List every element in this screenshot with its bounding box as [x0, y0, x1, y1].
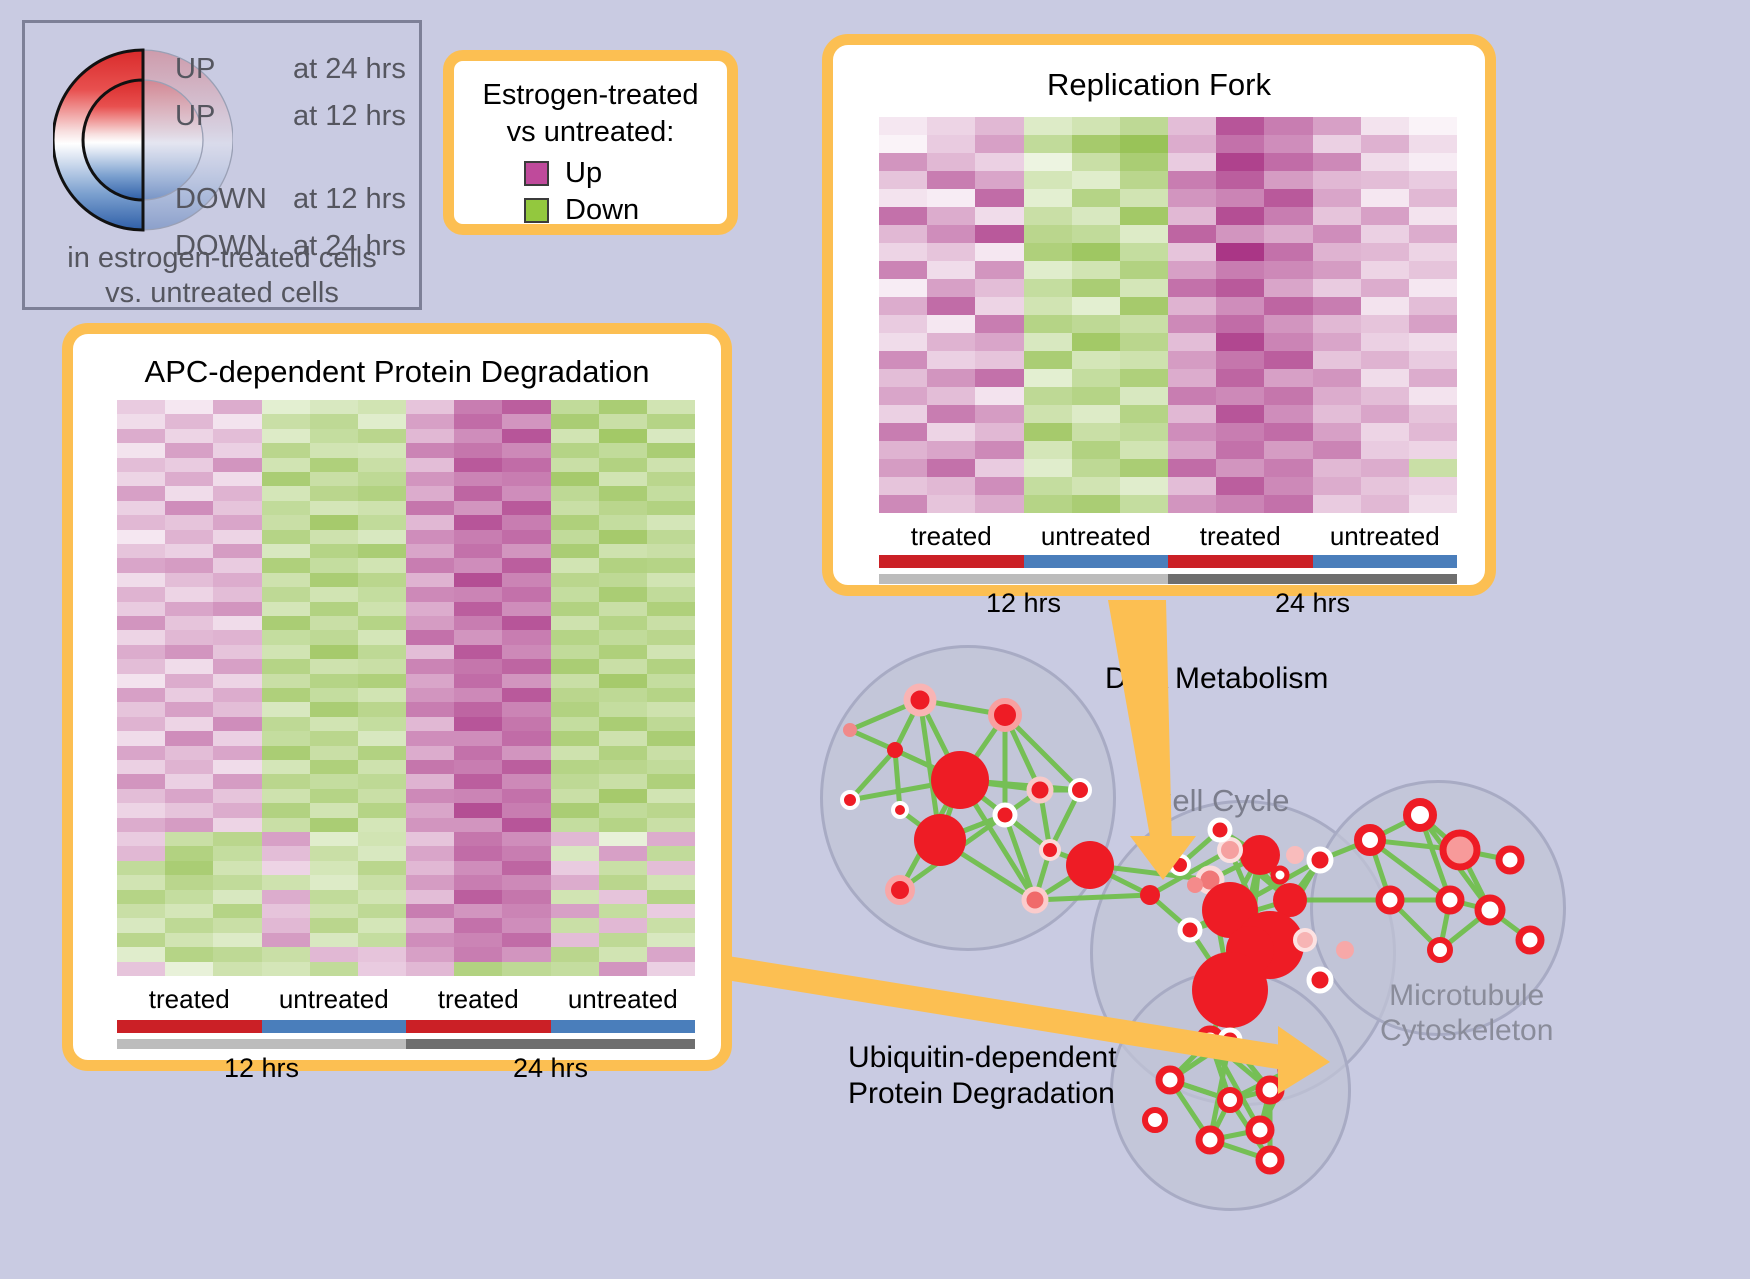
heatmap-cell — [406, 789, 454, 803]
heatmap-cell — [406, 530, 454, 544]
heatmap-cell — [406, 890, 454, 904]
heatmap-cell — [117, 558, 165, 572]
heatmap-cell — [1409, 459, 1457, 477]
heatmap-cell — [647, 803, 695, 817]
heatmap-cell — [310, 458, 358, 472]
heatmap-cell — [358, 414, 406, 428]
heatmap-cell — [213, 947, 261, 961]
heatmap-cell — [599, 472, 647, 486]
heatmap-cell — [502, 774, 550, 788]
heatmap-cell — [1409, 207, 1457, 225]
heatmap-cell — [1264, 441, 1312, 459]
heatmap-cell — [647, 659, 695, 673]
heatmap-cell — [165, 832, 213, 846]
heatmap-cell — [454, 573, 502, 587]
heatmap-cell — [406, 429, 454, 443]
heatmap-cell — [599, 774, 647, 788]
heatmap-cell — [262, 530, 310, 544]
heatmap-cell — [647, 414, 695, 428]
heatmap-cell — [647, 530, 695, 544]
heatmap-cell — [117, 530, 165, 544]
heatmap-cell — [502, 530, 550, 544]
heatmap-cell — [1409, 477, 1457, 495]
heatmap-cell — [647, 760, 695, 774]
heatmap-cell — [262, 904, 310, 918]
heatmap-cell — [879, 405, 927, 423]
heatmap-cell — [975, 477, 1023, 495]
heatmap-cell — [165, 933, 213, 947]
heatmap-cell — [1264, 423, 1312, 441]
legend-spacer — [175, 147, 415, 183]
heatmap-cell — [502, 789, 550, 803]
heatmap-cell — [599, 688, 647, 702]
heatmap-cell — [1216, 495, 1264, 513]
heatmap-cell — [310, 530, 358, 544]
heatmap-cell — [213, 400, 261, 414]
heatmap-cell — [117, 962, 165, 976]
heatmap-cell — [1313, 495, 1361, 513]
heatmap-cell — [310, 760, 358, 774]
heatmap-cell — [1024, 369, 1072, 387]
heatmap-cell — [1313, 387, 1361, 405]
heatmap-cell — [117, 443, 165, 457]
heatmap-cell — [1361, 207, 1409, 225]
heatmap-cell — [1216, 171, 1264, 189]
heatmap-cell — [117, 616, 165, 630]
heatmap-cell — [647, 616, 695, 630]
heatmap-cell — [213, 558, 261, 572]
heatmap-cell — [117, 429, 165, 443]
heatmap-cell — [406, 573, 454, 587]
heatmap-cell — [1264, 225, 1312, 243]
heatmap-cell — [1264, 207, 1312, 225]
heatmap-cell — [358, 918, 406, 932]
heatmap-cell — [406, 731, 454, 745]
heatmap-cell — [213, 818, 261, 832]
heatmap-cell — [1409, 189, 1457, 207]
heatmap-cell — [310, 587, 358, 601]
key-title-line1: Estrogen-treated — [454, 77, 727, 114]
heatmap-cell — [1216, 117, 1264, 135]
heatmap-cell — [117, 501, 165, 515]
key-title-line2: vs untreated: — [454, 114, 727, 151]
heatmap-cell — [165, 962, 213, 976]
heatmap-cell — [406, 918, 454, 932]
heatmap-cell — [358, 717, 406, 731]
heatmap-cell — [647, 429, 695, 443]
heatmap-cell — [454, 458, 502, 472]
heatmap-cell — [879, 423, 927, 441]
heatmap-cell — [454, 472, 502, 486]
heatmap-cell — [599, 947, 647, 961]
heatmap-cell — [213, 414, 261, 428]
heatmap-cell — [1216, 189, 1264, 207]
heatmap-cell — [454, 674, 502, 688]
heatmap-cell — [599, 746, 647, 760]
heatmap-cell — [1313, 153, 1361, 171]
heatmap-cell — [502, 659, 550, 673]
heatmap-cell — [262, 702, 310, 716]
heatmap-cell — [502, 630, 550, 644]
heatmap-cell — [454, 933, 502, 947]
heatmap-cell — [358, 832, 406, 846]
heatmap-cell — [310, 630, 358, 644]
heatmap-cell — [1168, 459, 1216, 477]
heatmap-cell — [358, 501, 406, 515]
heatmap-cell — [358, 558, 406, 572]
heatmap-cell — [406, 832, 454, 846]
heatmap-cell — [406, 458, 454, 472]
heatmap-cell — [1072, 369, 1120, 387]
heatmap-cell — [599, 616, 647, 630]
heatmap-cell — [1072, 117, 1120, 135]
heatmap-cell — [1072, 423, 1120, 441]
heatmap-cell — [1120, 405, 1168, 423]
heatmap-cell — [165, 414, 213, 428]
condition-label: treated — [1168, 521, 1313, 552]
heatmap-cell — [647, 630, 695, 644]
heatmap-cell — [406, 443, 454, 457]
heatmap-cell — [310, 962, 358, 976]
heatmap-cell — [1361, 279, 1409, 297]
heatmap-cell — [502, 616, 550, 630]
condition-label: untreated — [1024, 521, 1169, 552]
heatmap-cell — [975, 207, 1023, 225]
heatmap-cell — [1168, 387, 1216, 405]
heatmap-cell — [551, 458, 599, 472]
heatmap-cell — [879, 135, 927, 153]
heatmap-cell — [1024, 117, 1072, 135]
heatmap-cell — [551, 501, 599, 515]
heatmap-cell — [454, 904, 502, 918]
heatmap-cell — [1120, 117, 1168, 135]
heatmap-cell — [1024, 153, 1072, 171]
heatmap-cell — [1024, 279, 1072, 297]
pathway-network-diagram: DNA Metabolism Cell Cycle Microtubule Cy… — [790, 600, 1750, 1279]
heatmap-cell — [165, 587, 213, 601]
heatmap-cell — [1168, 441, 1216, 459]
heatmap-cell — [1264, 135, 1312, 153]
heatmap-cell — [551, 645, 599, 659]
heatmap-cell — [1409, 423, 1457, 441]
heatmap-cell — [1168, 423, 1216, 441]
heatmap-cell — [1361, 423, 1409, 441]
heatmap-cell — [117, 717, 165, 731]
heatmap-cell — [454, 616, 502, 630]
heatmap-cell — [406, 947, 454, 961]
heatmap-cell — [454, 717, 502, 731]
heatmap-cell — [1361, 261, 1409, 279]
heatmap-cell — [117, 702, 165, 716]
heatmap-cell — [1168, 135, 1216, 153]
heatmap-cell — [599, 674, 647, 688]
heatmap-cell — [406, 818, 454, 832]
heatmap-cell — [117, 947, 165, 961]
heatmap-cell — [1313, 351, 1361, 369]
heatmap-cell — [927, 495, 975, 513]
heatmap-cell — [406, 904, 454, 918]
panel-title: APC-dependent Protein Degradation — [73, 354, 721, 390]
heatmap-cell — [1409, 441, 1457, 459]
heatmap-cell — [1264, 153, 1312, 171]
heatmap-cell — [1024, 333, 1072, 351]
heatmap-cell — [406, 688, 454, 702]
heatmap-cell — [358, 962, 406, 976]
legend-value: at 24 hrs — [293, 53, 406, 86]
heatmap-cell — [454, 890, 502, 904]
heatmap-cell — [262, 846, 310, 860]
heatmap-cell — [1168, 117, 1216, 135]
heatmap-cell — [1313, 171, 1361, 189]
heatmap-cell — [927, 387, 975, 405]
heatmap-cell — [213, 962, 261, 976]
heatmap-cell — [310, 486, 358, 500]
heatmap-cell — [117, 544, 165, 558]
heatmap-cell — [1120, 297, 1168, 315]
heatmap-cell — [551, 544, 599, 558]
heatmap-cell — [927, 261, 975, 279]
heatmap-cell — [1120, 315, 1168, 333]
heatmap-cell — [879, 369, 927, 387]
heatmap-cell — [502, 962, 550, 976]
heatmap-cell — [647, 918, 695, 932]
heatmap-cell — [927, 135, 975, 153]
heatmap-cell — [1072, 477, 1120, 495]
heatmap-cell — [1313, 279, 1361, 297]
heatmap-cell — [454, 515, 502, 529]
heatmap-cell — [927, 405, 975, 423]
heatmap-cell — [213, 472, 261, 486]
heatmap-cell — [310, 429, 358, 443]
key-title: Estrogen-treated vs untreated: — [454, 77, 727, 150]
heatmap-cell — [213, 616, 261, 630]
heatmap-cell — [213, 429, 261, 443]
heatmap-cell — [454, 702, 502, 716]
heatmap-cell — [454, 861, 502, 875]
heatmap-cell — [454, 544, 502, 558]
heatmap-cell — [310, 832, 358, 846]
heatmap-cell — [599, 458, 647, 472]
heatmap-cell — [213, 731, 261, 745]
heatmap-cell — [454, 746, 502, 760]
heatmap-cell — [599, 515, 647, 529]
heatmap-cell — [358, 645, 406, 659]
heatmap-cell — [310, 688, 358, 702]
heatmap-cell — [599, 544, 647, 558]
heatmap-cell — [262, 861, 310, 875]
heatmap-cell — [165, 904, 213, 918]
heatmap-cell — [1264, 459, 1312, 477]
cluster-label-cell-cycle: Cell Cycle — [1150, 783, 1290, 819]
heatmap-cell — [975, 405, 1023, 423]
heatmap-cell — [454, 688, 502, 702]
heatmap-cell — [1313, 477, 1361, 495]
heatmap-cell — [1120, 135, 1168, 153]
heatmap-cell — [1072, 297, 1120, 315]
heatmap-cell — [599, 702, 647, 716]
cluster-label-dna-metabolism: DNA Metabolism — [1105, 662, 1328, 696]
heatmap-cell — [599, 818, 647, 832]
heatmap-cell — [551, 630, 599, 644]
heatmap-cell — [1216, 225, 1264, 243]
heatmap-cell — [454, 486, 502, 500]
heatmap-cell — [117, 645, 165, 659]
heatmap-cell — [1216, 441, 1264, 459]
heatmap-cell — [117, 414, 165, 428]
heatmap-cell — [262, 630, 310, 644]
condition-label: treated — [879, 521, 1024, 552]
heatmap-cell — [1313, 135, 1361, 153]
heatmap-cell — [310, 443, 358, 457]
heatmap-cell — [1168, 369, 1216, 387]
heatmap-apc-degradation — [117, 400, 695, 976]
timepoint-labels: 12 hrs24 hrs — [117, 1053, 695, 1084]
heatmap-cell — [358, 544, 406, 558]
heatmap-cell — [310, 818, 358, 832]
heatmap-cell — [1216, 315, 1264, 333]
legend-caption-line2: vs. untreated cells — [25, 276, 419, 311]
heatmap-cell — [213, 602, 261, 616]
heatmap-cell — [1264, 297, 1312, 315]
key-label-up: Up — [565, 157, 602, 190]
heatmap-cell — [406, 861, 454, 875]
heatmap-cell — [262, 803, 310, 817]
heatmap-cell — [1168, 207, 1216, 225]
heatmap-cell — [406, 933, 454, 947]
heatmap-cell — [975, 387, 1023, 405]
heatmap-cell — [1216, 279, 1264, 297]
heatmap-cell — [1409, 351, 1457, 369]
heatmap-cell — [310, 616, 358, 630]
heatmap-cell — [1361, 297, 1409, 315]
heatmap-cell — [358, 933, 406, 947]
heatmap-cell — [551, 947, 599, 961]
key-item-up: Up — [524, 157, 639, 190]
heatmap-cell — [117, 832, 165, 846]
heatmap-cell — [1024, 297, 1072, 315]
heatmap-cell — [1168, 297, 1216, 315]
heatmap-cell — [1024, 315, 1072, 333]
heatmap-cell — [358, 616, 406, 630]
heatmap-cell — [551, 918, 599, 932]
heatmap-cell — [213, 875, 261, 889]
heatmap-cell — [1024, 135, 1072, 153]
heatmap-cell — [599, 645, 647, 659]
heatmap-cell — [1361, 117, 1409, 135]
heatmap-cell — [1120, 171, 1168, 189]
heatmap-cell — [927, 207, 975, 225]
heatmap-cell — [551, 429, 599, 443]
heatmap-cell — [1120, 495, 1168, 513]
heatmap-cell — [551, 702, 599, 716]
heatmap-cell — [358, 515, 406, 529]
heatmap-cell — [551, 573, 599, 587]
heatmap-cell — [262, 414, 310, 428]
heatmap-cell — [1409, 117, 1457, 135]
heatmap-cell — [1120, 477, 1168, 495]
heatmap-cell — [358, 861, 406, 875]
heatmap-cell — [454, 803, 502, 817]
heatmap-cell — [262, 789, 310, 803]
heatmap-cell — [927, 279, 975, 297]
heatmap-cell — [165, 544, 213, 558]
heatmap-cell — [165, 573, 213, 587]
heatmap-cell — [1409, 297, 1457, 315]
heatmap-cell — [358, 659, 406, 673]
heatmap-cell — [927, 189, 975, 207]
heatmap-cell — [1361, 459, 1409, 477]
heatmap-cell — [599, 846, 647, 860]
heatmap-cell — [117, 875, 165, 889]
heatmap-cell — [262, 760, 310, 774]
heatmap-cell — [262, 486, 310, 500]
heatmap-cell — [262, 602, 310, 616]
heatmap-cell — [1216, 459, 1264, 477]
heatmap-cell — [117, 486, 165, 500]
heatmap-cell — [358, 731, 406, 745]
heatmap-cell — [165, 602, 213, 616]
timepoint-label: 24 hrs — [406, 1053, 695, 1084]
heatmap-cell — [1120, 189, 1168, 207]
timepoint-label: 12 hrs — [117, 1053, 406, 1084]
heatmap-cell — [1264, 387, 1312, 405]
heatmap-cell — [879, 477, 927, 495]
heatmap-cell — [975, 279, 1023, 297]
heatmap-cell — [975, 243, 1023, 261]
heatmap-cell — [165, 530, 213, 544]
heatmap-cell — [502, 933, 550, 947]
heatmap-cell — [1120, 225, 1168, 243]
heatmap-cell — [502, 458, 550, 472]
heatmap-cell — [1024, 477, 1072, 495]
heatmap-cell — [1409, 243, 1457, 261]
heatmap-cell — [1168, 225, 1216, 243]
heatmap-cell — [927, 333, 975, 351]
heatmap-cell — [927, 243, 975, 261]
heatmap-cell — [1024, 495, 1072, 513]
heatmap-cell — [647, 933, 695, 947]
heatmap-cell — [1313, 207, 1361, 225]
heatmap-cell — [1120, 207, 1168, 225]
heatmap-cell — [454, 760, 502, 774]
heatmap-cell — [1120, 279, 1168, 297]
heatmap-cell — [1313, 405, 1361, 423]
heatmap-cell — [310, 875, 358, 889]
heatmap-cell — [358, 890, 406, 904]
heatmap-cell — [879, 459, 927, 477]
heatmap-cell — [1216, 369, 1264, 387]
heatmap-cell — [165, 760, 213, 774]
heatmap-cell — [213, 573, 261, 587]
heatmap-cell — [1120, 387, 1168, 405]
heatmap-cell — [1168, 333, 1216, 351]
heatmap-cell — [879, 441, 927, 459]
heatmap-cell — [454, 818, 502, 832]
heatmap-cell — [165, 429, 213, 443]
heatmap-cell — [599, 832, 647, 846]
heatmap-cell — [1264, 243, 1312, 261]
heatmap-cell — [647, 674, 695, 688]
heatmap-cell — [406, 602, 454, 616]
heatmap-cell — [213, 861, 261, 875]
heatmap-cell — [406, 558, 454, 572]
heatmap-cell — [454, 846, 502, 860]
heatmap-cell — [1264, 495, 1312, 513]
heatmap-cell — [599, 875, 647, 889]
heatmap-cell — [117, 731, 165, 745]
heatmap-cell — [647, 861, 695, 875]
heatmap-cell — [1072, 315, 1120, 333]
